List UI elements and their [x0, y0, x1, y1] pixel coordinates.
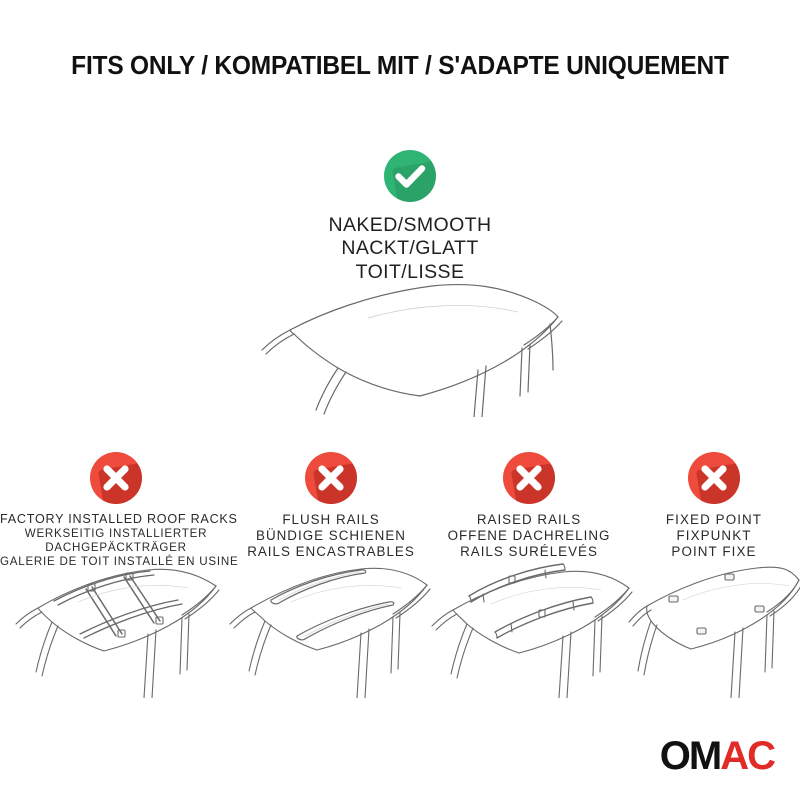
rejected-roof-type-fixed-point: FIXED POINT FIXPUNKT POINT FIXE — [628, 452, 800, 560]
x-circle-icon — [503, 452, 555, 504]
rejected-label-de-1: WERKSEITIG INSTALLIERTER — [0, 527, 232, 541]
rejected-label-en: FLUSH RAILS — [232, 512, 430, 528]
x-circle-icon — [90, 452, 142, 504]
raised-rail-roof-illustration — [425, 548, 635, 698]
rejected-label-de: OFFENE DACHRELING — [430, 528, 628, 544]
logo-text-red: AC — [720, 734, 774, 778]
page-title: FITS ONLY / KOMPATIBEL MIT / S'ADAPTE UN… — [16, 52, 784, 81]
rejected-roof-type-raised-rails: RAISED RAILS OFFENE DACHRELING RAILS SUR… — [430, 452, 628, 560]
factory-rack-roof-illustration — [8, 548, 230, 698]
check-circle-icon — [384, 150, 436, 202]
flush-rail-roof-illustration — [225, 548, 435, 698]
approved-label-en: NAKED/SMOOTH — [280, 214, 540, 237]
fixed-point-roof-illustration — [625, 548, 800, 698]
logo-text-dark: OM — [660, 734, 720, 778]
omac-logo: OMAC — [660, 736, 774, 776]
rejected-label-en: FACTORY INSTALLED ROOF RACKS — [0, 512, 232, 527]
x-circle-icon — [688, 452, 740, 504]
rejected-label-de: BÜNDIGE SCHIENEN — [232, 528, 430, 544]
rejected-label-de: FIXPUNKT — [628, 528, 800, 544]
rejected-label-en: RAISED RAILS — [430, 512, 628, 528]
x-circle-icon — [305, 452, 357, 504]
rejected-label-en: FIXED POINT — [628, 512, 800, 528]
smooth-roof-illustration — [250, 272, 580, 417]
rejected-roof-type-flush-rails: FLUSH RAILS BÜNDIGE SCHIENEN RAILS ENCAS… — [232, 452, 430, 560]
approved-roof-type: NAKED/SMOOTH NACKT/GLATT TOIT/LISSE — [280, 150, 540, 284]
approved-label-de: NACKT/GLATT — [280, 237, 540, 260]
